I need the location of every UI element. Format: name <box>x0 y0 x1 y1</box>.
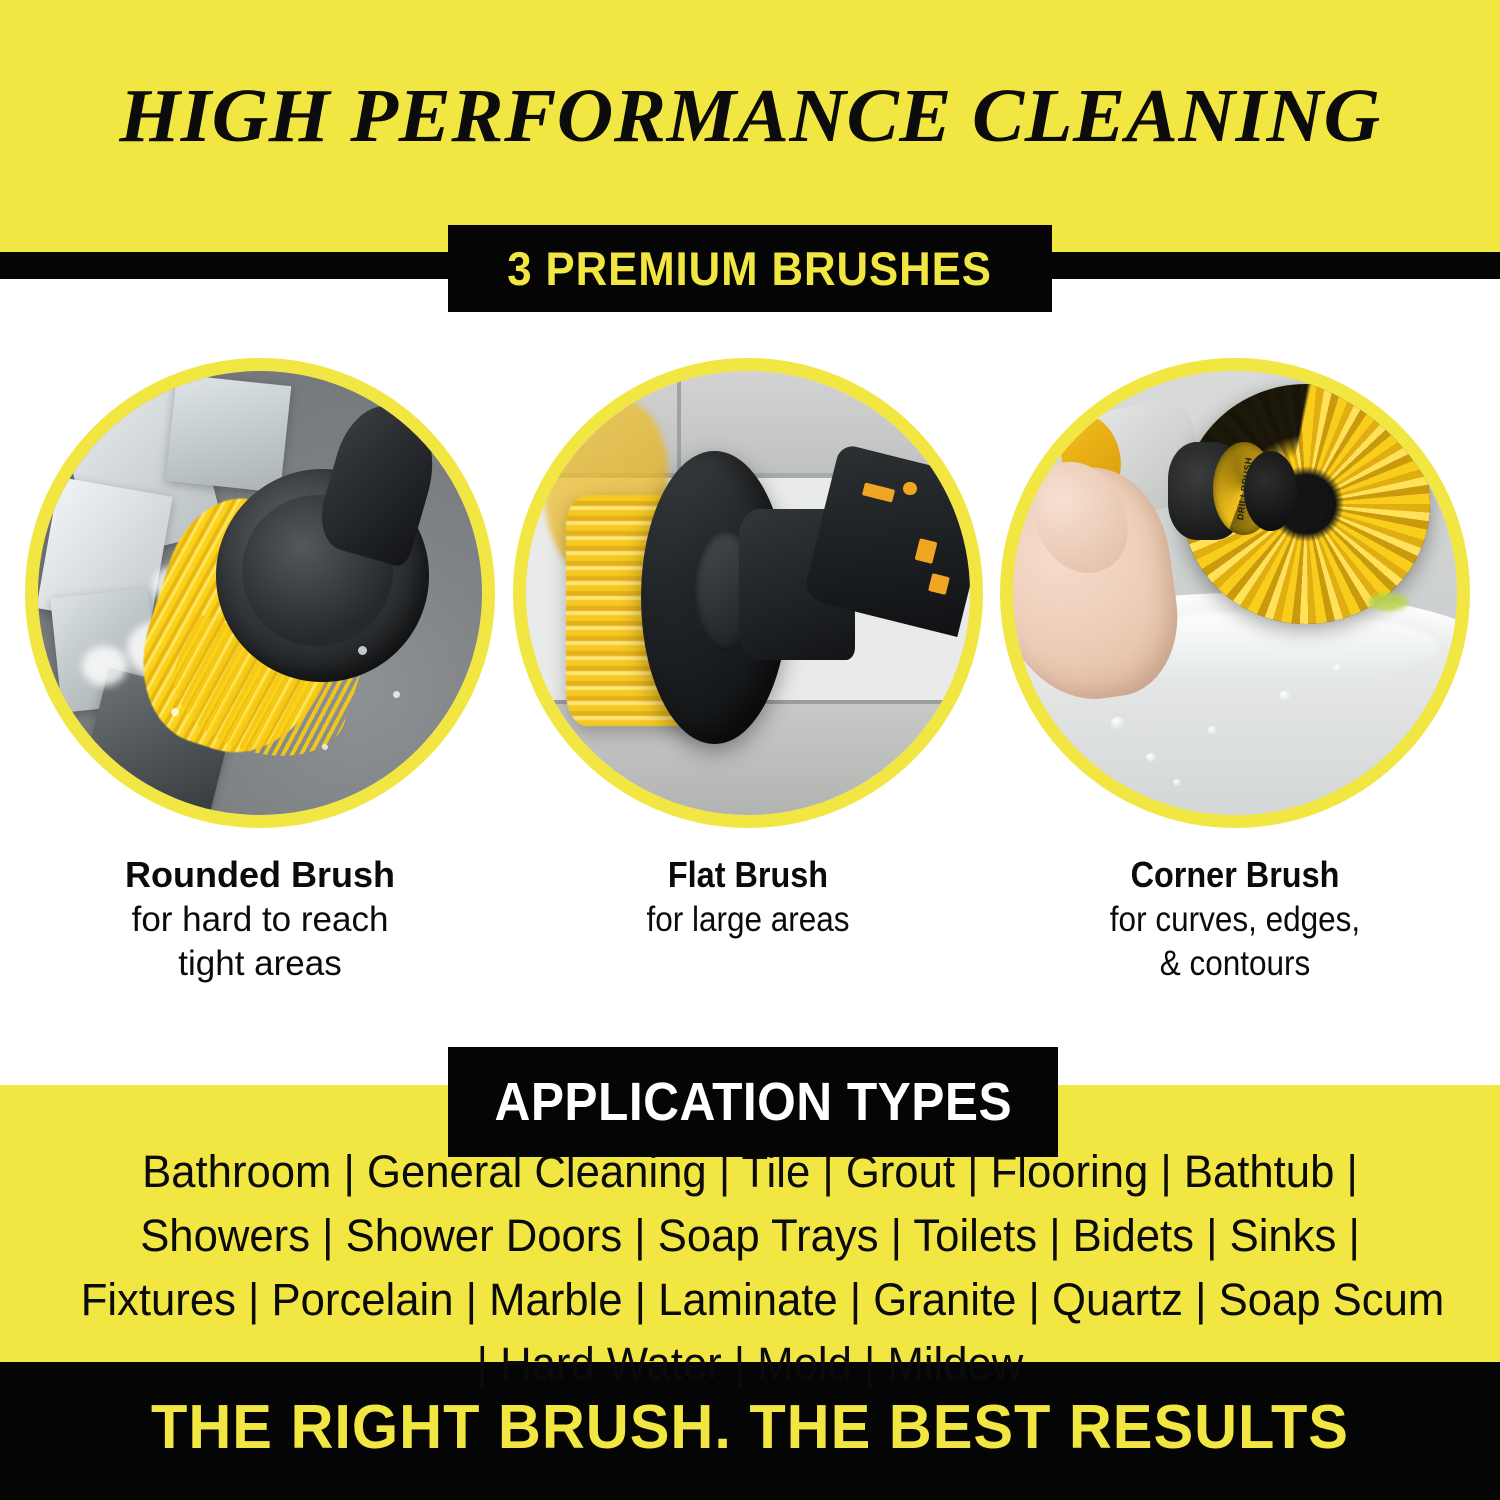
applications-line: | Hard Water | Mold | Mildew <box>81 1332 1420 1396</box>
caption-flat-brush: Flat Brush for large areas <box>513 852 983 942</box>
photo-circle-rounded-brush <box>25 358 495 828</box>
applications-list: Bathroom | General Cleaning | Tile | Gro… <box>81 1140 1420 1396</box>
brush-photo-3: DRILLBRUSH <box>1000 358 1470 828</box>
caption-subtitle-line-2: tight areas <box>25 942 495 986</box>
water-droplet <box>1146 753 1156 762</box>
photo-circle-flat-brush <box>513 358 983 828</box>
drill-marking <box>903 482 916 495</box>
brush-photo-2 <box>513 358 983 828</box>
caption-corner-brush: Corner Brush for curves, edges, & contou… <box>1000 852 1470 986</box>
applications-banner-label: APPLICATION TYPES <box>494 1071 1012 1133</box>
tile-shard <box>166 374 292 492</box>
footer-tagline: THE RIGHT BRUSH. THE BEST RESULTS <box>30 1392 1470 1463</box>
caption-title: Rounded Brush <box>25 852 495 898</box>
infographic-page: HIGH PERFORMANCE CLEANING 3 PREMIUM BRUS… <box>0 0 1500 1500</box>
caption-title: Flat Brush <box>537 852 960 898</box>
water-droplet <box>393 691 400 698</box>
brushes-banner: 3 PREMIUM BRUSHES <box>448 225 1052 312</box>
water-droplet <box>1279 691 1291 701</box>
caption-title: Corner Brush <box>1024 852 1447 898</box>
brush-hub-cap <box>1244 451 1297 531</box>
caption-subtitle-line-1: for curves, edges, <box>1024 898 1447 942</box>
caption-subtitle-line-1: for large areas <box>537 898 960 942</box>
brush-photo-1 <box>25 358 495 828</box>
soap-foam <box>82 646 126 686</box>
water-droplet <box>1111 717 1125 729</box>
scene-flat-brush <box>526 371 970 815</box>
brush-captions: Rounded Brush for hard to reach tight ar… <box>0 852 1500 1022</box>
scene-rounded-brush <box>38 371 482 815</box>
applications-line: Showers | Shower Doors | Soap Trays | To… <box>81 1204 1420 1268</box>
water-droplet <box>1333 664 1343 672</box>
scene-corner-brush: DRILLBRUSH <box>1013 371 1457 815</box>
water-droplet <box>358 646 367 655</box>
brush-photo-row: DRILLBRUSH <box>0 358 1500 836</box>
caption-subtitle-line-1: for hard to reach <box>25 898 495 942</box>
caption-rounded-brush: Rounded Brush for hard to reach tight ar… <box>25 852 495 986</box>
applications-banner: APPLICATION TYPES <box>448 1047 1058 1157</box>
page-title: HIGH PERFORMANCE CLEANING <box>0 78 1500 154</box>
photo-circle-corner-brush: DRILLBRUSH <box>1000 358 1470 828</box>
caption-subtitle-line-2: & contours <box>1024 942 1447 986</box>
green-residue <box>1368 593 1408 611</box>
brushes-banner-label: 3 PREMIUM BRUSHES <box>508 241 993 296</box>
applications-line: Fixtures | Porcelain | Marble | Laminate… <box>81 1268 1420 1332</box>
